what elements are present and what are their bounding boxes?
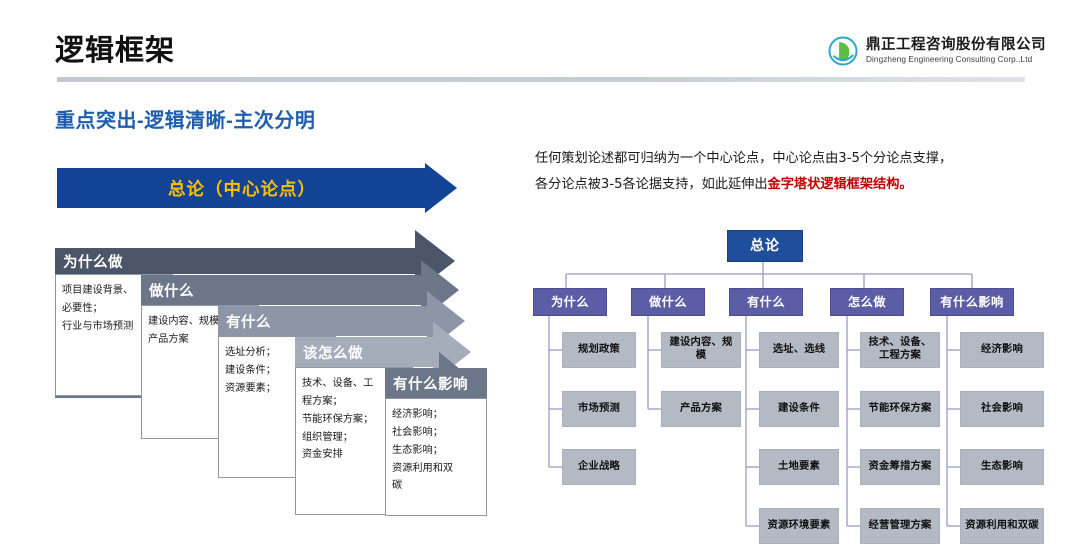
tree-branch-1[interactable]: 为什么 xyxy=(533,288,607,316)
cascade-diagram: 为什么做 项目建设背景、 必要性； 行业与市场预测 做什么 建设内容、规模； 产… xyxy=(55,228,515,518)
cascade-step-2-title: 做什么 xyxy=(141,275,259,305)
tree-leaf-4-4[interactable]: 经营管理方案 xyxy=(860,508,940,544)
tree-branch-3[interactable]: 有什么 xyxy=(729,288,803,316)
dingzheng-logo-icon xyxy=(828,36,858,66)
pyramid-tree-diagram: 总论 为什么 做什么 有什么 怎么做 有什么影响 规划政策 市场预测 企业战略 … xyxy=(535,222,1045,557)
tree-leaf-1-2[interactable]: 市场预测 xyxy=(562,391,636,427)
cascade-item: 经济影响； xyxy=(392,406,480,424)
tree-leaf-4-2[interactable]: 节能环保方案 xyxy=(860,391,940,427)
cascade-item: 社会影响； xyxy=(392,424,480,442)
tree-branch-5[interactable]: 有什么影响 xyxy=(930,288,1014,316)
tree-leaf-1-3[interactable]: 企业战略 xyxy=(562,449,636,485)
tree-leaf-3-4[interactable]: 资源环境要素 xyxy=(759,508,839,544)
cascade-step-5-body: 经济影响； 社会影响； 生态影响； 资源利用和双 碳 xyxy=(385,398,487,516)
cascade-step-4-title: 该怎么做 xyxy=(295,337,413,367)
logo-company-name-cn: 鼎正工程咨询股份有限公司 xyxy=(866,37,1046,54)
tree-leaf-5-3[interactable]: 生态影响 xyxy=(960,449,1044,485)
cascade-item: 资源利用和双 xyxy=(392,460,480,478)
intro-line-2-prefix: 各分论点被3-5各论据支持，如此延伸出 xyxy=(535,177,768,192)
intro-highlight: 金字塔状逻辑框架结构。 xyxy=(768,177,913,192)
cascade-item: 生态影响； xyxy=(392,442,480,460)
cascade-step-3-title: 有什么 xyxy=(218,306,336,336)
tree-branch-2[interactable]: 做什么 xyxy=(631,288,705,316)
tree-leaf-2-1[interactable]: 建设内容、规模 xyxy=(661,332,741,368)
company-logo: 鼎正工程咨询股份有限公司 Dingzheng Engineering Consu… xyxy=(828,36,1046,66)
central-thesis-banner xyxy=(57,163,457,213)
tree-branch-4[interactable]: 怎么做 xyxy=(830,288,904,316)
tree-leaf-4-1[interactable]: 技术、设备、工程方案 xyxy=(860,332,940,368)
intro-line-1: 任何策划论述都可归纳为一个中心论点，中心论点由3-5个分论点支撑， xyxy=(535,151,952,166)
logo-company-name-en: Dingzheng Engineering Consulting Corp.,L… xyxy=(866,55,1046,65)
tree-leaf-5-2[interactable]: 社会影响 xyxy=(960,391,1044,427)
tree-leaf-5-4[interactable]: 资源利用和双碳 xyxy=(960,508,1044,544)
tree-leaf-3-3[interactable]: 土地要素 xyxy=(759,449,839,485)
slide-canvas: 逻辑框架 鼎正工程咨询股份有限公司 Dingzheng Engineering … xyxy=(0,0,1080,560)
cascade-item: 碳 xyxy=(392,477,480,495)
tree-leaf-3-2[interactable]: 建设条件 xyxy=(759,391,839,427)
intro-paragraph: 任何策划论述都可归纳为一个中心论点，中心论点由3-5个分论点支撑， 各分论点被3… xyxy=(535,146,1035,199)
tree-leaf-5-1[interactable]: 经济影响 xyxy=(960,332,1044,368)
tree-leaf-3-1[interactable]: 选址、选线 xyxy=(759,332,839,368)
section-subtitle: 重点突出-逻辑清晰-主次分明 xyxy=(55,104,315,133)
cascade-step-5-title: 有什么影响 xyxy=(385,368,487,398)
tree-leaf-4-3[interactable]: 资金筹措方案 xyxy=(860,449,940,485)
page-title: 逻辑框架 xyxy=(55,27,175,69)
tree-root-node[interactable]: 总论 xyxy=(727,230,803,262)
tree-leaf-2-2[interactable]: 产品方案 xyxy=(661,391,741,427)
cascade-step-1-title: 为什么做 xyxy=(55,248,173,274)
tree-leaf-1-1[interactable]: 规划政策 xyxy=(562,332,636,368)
title-divider xyxy=(57,77,1025,82)
